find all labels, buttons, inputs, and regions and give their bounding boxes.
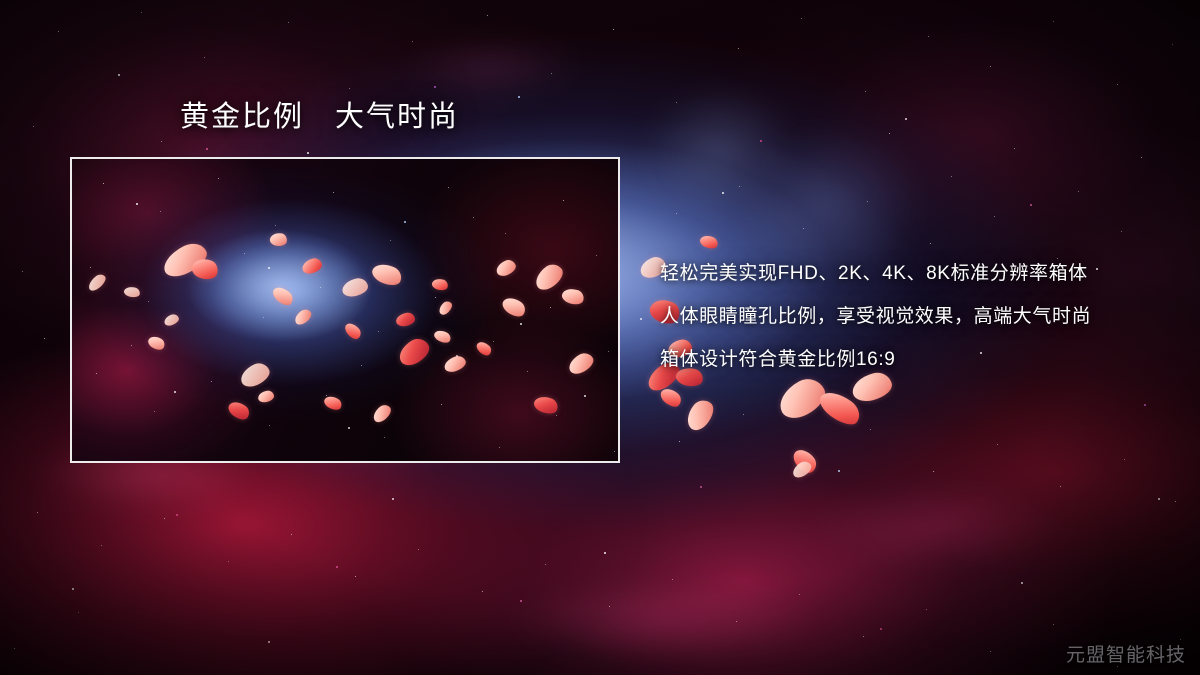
petal	[343, 320, 364, 342]
petal	[790, 445, 820, 477]
petal	[437, 299, 455, 317]
starfield-bright	[0, 0, 2, 2]
petal	[86, 272, 108, 293]
petal	[300, 257, 323, 276]
petal	[226, 398, 253, 423]
petal	[269, 232, 288, 247]
petal	[560, 286, 586, 307]
petal	[532, 393, 560, 416]
starfield-small-upper	[0, 0, 1, 1]
starfield-small-lower	[0, 0, 1, 1]
petal	[341, 276, 370, 298]
petal	[698, 233, 719, 251]
petal	[494, 258, 518, 278]
body-line: 箱体设计符合黄金比例16:9	[660, 338, 1160, 381]
page-title: 黄金比例 大气时尚	[180, 101, 459, 134]
petal	[237, 360, 273, 390]
petal	[395, 334, 434, 369]
petal	[257, 390, 275, 404]
petal	[442, 354, 467, 374]
watermark: 元盟智能科技	[1066, 640, 1186, 667]
petal	[163, 313, 181, 328]
body-line: 轻松完美实现FHD、2K、4K、8K标准分辨率箱体	[660, 252, 1160, 295]
petal	[815, 385, 865, 430]
video-preview-frame[interactable]	[70, 157, 620, 463]
petal	[190, 255, 221, 282]
petal	[658, 385, 684, 411]
petal	[681, 396, 718, 435]
petal	[322, 393, 344, 412]
petal	[395, 312, 416, 328]
petal	[292, 307, 314, 327]
body-copy: 轻松完美实现FHD、2K、4K、8K标准分辨率箱体 人体眼睛瞳孔比例，享受视觉效…	[660, 252, 1160, 381]
petal	[531, 260, 567, 294]
petal	[790, 459, 814, 480]
petal	[146, 334, 167, 353]
petal	[474, 339, 493, 358]
petal	[432, 328, 452, 345]
petal	[159, 238, 212, 282]
petal	[500, 294, 529, 321]
petal	[431, 277, 449, 292]
petal	[123, 285, 141, 298]
petal	[370, 402, 394, 425]
petal	[369, 260, 404, 290]
body-line: 人体眼睛瞳孔比例，享受视觉效果，高端大气时尚	[660, 295, 1160, 338]
panel-starfield-bright	[72, 159, 74, 161]
presentation-slide: 黄金比例 大气时尚 轻松完美实现FHD、2K、4K、8K标准分辨率箱体 人体眼睛…	[0, 0, 1200, 675]
petal	[270, 283, 296, 308]
starfield-pink	[0, 0, 2, 2]
petal	[566, 350, 597, 377]
